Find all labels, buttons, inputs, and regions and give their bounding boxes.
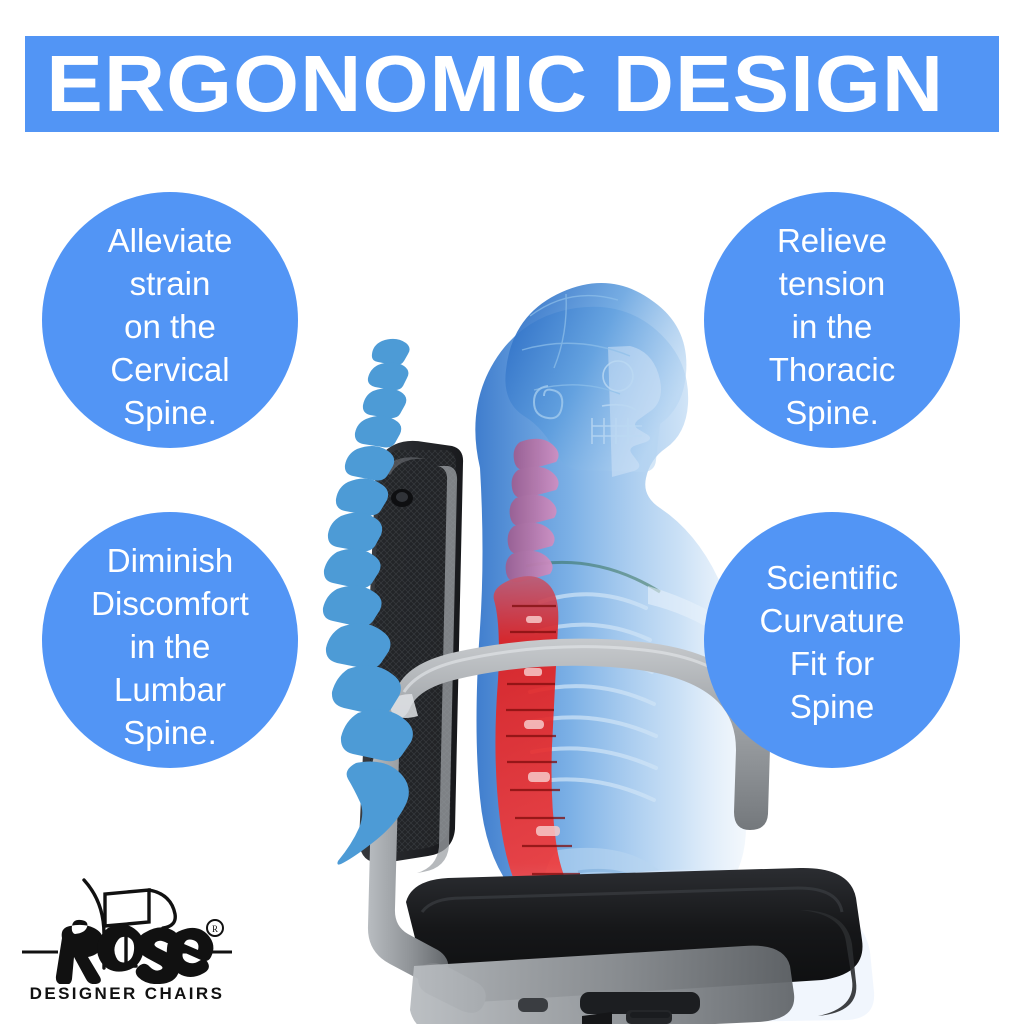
feature-bubble-thoracic[interactable]: Relieve tension in the Thoracic Spine. <box>704 192 960 448</box>
logo-tagline: DESIGNER CHAIRS <box>22 984 232 1004</box>
feature-bubble-lumbar[interactable]: Diminish Discomfort in the Lumbar Spine. <box>42 512 298 768</box>
infographic-canvas: ERGONOMIC DESIGN <box>0 0 1024 1024</box>
feature-bubble-curvature-label: Scientific Curvature Fit for Spine <box>707 556 957 728</box>
svg-text:R: R <box>212 924 218 934</box>
rose-logo-mark: R <box>22 866 232 984</box>
feature-bubble-cervical[interactable]: Alleviate strain on the Cervical Spine. <box>42 192 298 448</box>
title-banner: ERGONOMIC DESIGN <box>25 36 999 132</box>
feature-bubble-cervical-label: Alleviate strain on the Cervical Spine. <box>45 219 295 434</box>
feature-bubble-curvature[interactable]: Scientific Curvature Fit for Spine <box>704 512 960 768</box>
vertebral-column-graphic <box>296 335 436 880</box>
page-title: ERGONOMIC DESIGN <box>25 36 944 132</box>
brand-logo: R DESIGNER CHAIRS <box>22 866 232 1016</box>
feature-bubble-lumbar-label: Diminish Discomfort in the Lumbar Spine. <box>45 539 295 754</box>
registered-trademark-icon: R <box>207 920 223 936</box>
feature-bubble-thoracic-label: Relieve tension in the Thoracic Spine. <box>707 219 957 434</box>
